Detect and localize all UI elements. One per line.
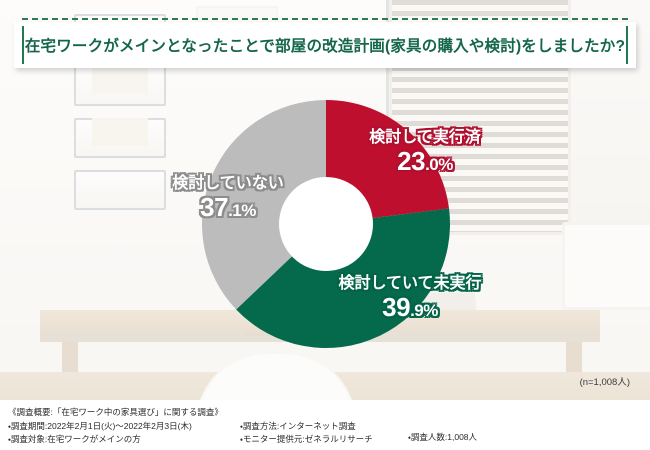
footer-column-2: ・調査方法:インターネット調査 ・モニター提供元:ゼネラルリサーチ — [240, 420, 408, 446]
page-title: 在宅ワークがメインとなったことで部屋の改造計画(家具の購入や検討)をしましたか? — [14, 22, 636, 68]
slice-label-gray: 検討していない 37.1% — [148, 176, 308, 221]
footer-item: ・調査期間:2022年2月1日(火)〜2022年2月3日(木) — [8, 420, 240, 433]
slice-label-green-value: 39.9% — [300, 294, 520, 321]
slice-label-red-name: 検討して実行済 — [330, 130, 520, 147]
title-dashed-rule — [22, 18, 628, 20]
sample-size-note: (n=1,008人) — [580, 374, 630, 388]
footer-column-3: ・調査人数:1,008人 — [408, 420, 528, 446]
slice-label-green: 検討していて未実行 39.9% — [300, 276, 520, 321]
slice-label-red: 検討して実行済 23.0% — [330, 130, 520, 175]
footer-item: ・調査対象:在宅ワークがメインの方 — [8, 433, 240, 446]
title-banner: 在宅ワークがメインとなったことで部屋の改造計画(家具の購入や検討)をしましたか? — [14, 18, 636, 68]
footer-item: ・調査方法:インターネット調査 — [240, 420, 408, 433]
footer-item: ・モニター提供元:ゼネラルリサーチ — [240, 433, 408, 446]
title-box: 在宅ワークがメインとなったことで部屋の改造計画(家具の購入や検討)をしましたか? — [14, 22, 636, 68]
slice-label-gray-name: 検討していない — [148, 176, 308, 193]
infographic-canvas: 在宅ワークがメインとなったことで部屋の改造計画(家具の購入や検討)をしましたか?… — [0, 0, 650, 450]
footer-heading: 《調査概要:「在宅ワーク中の家具選び」に関する調査》 — [8, 406, 530, 418]
footer-item: ・調査人数:1,008人 — [408, 431, 528, 444]
footer-column-1: ・調査期間:2022年2月1日(火)〜2022年2月3日(木) ・調査対象:在宅… — [8, 420, 240, 446]
footer-columns: 《調査概要:「在宅ワーク中の家具選び」に関する調査》 ・調査期間:2022年2月… — [8, 406, 530, 446]
footer-bar: 《調査概要:「在宅ワーク中の家具選び」に関する調査》 ・調査期間:2022年2月… — [0, 400, 650, 450]
slice-label-gray-value: 37.1% — [148, 194, 308, 221]
slice-label-green-name: 検討していて未実行 — [300, 276, 520, 293]
slice-label-red-value: 23.0% — [330, 148, 520, 175]
footer-row: ・調査期間:2022年2月1日(火)〜2022年2月3日(木) ・調査対象:在宅… — [8, 420, 530, 446]
